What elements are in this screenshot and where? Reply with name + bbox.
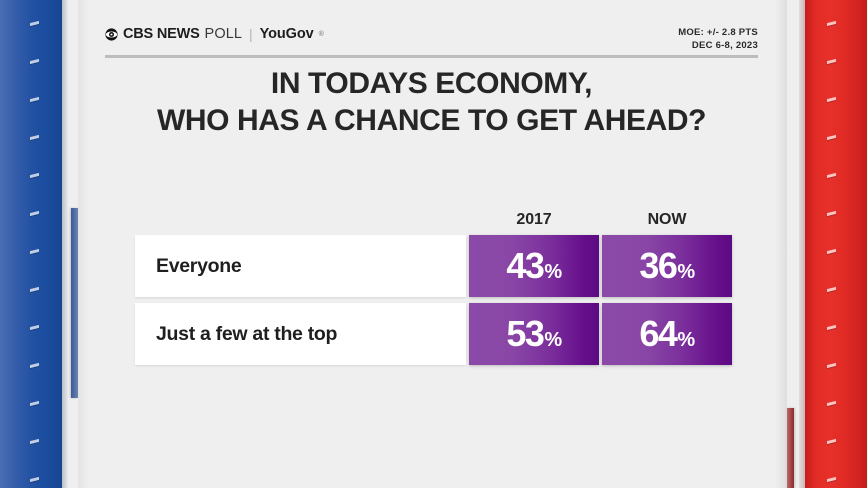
right-page-edge bbox=[775, 0, 787, 488]
row-label-just-a-few-at-the-top: Just a few at the top bbox=[135, 303, 466, 365]
value-number: 64 bbox=[639, 316, 676, 352]
percent-sign: % bbox=[677, 262, 694, 282]
percent-sign: % bbox=[677, 330, 694, 350]
brand-poll: POLL bbox=[205, 26, 242, 42]
brand-separator: | bbox=[247, 26, 255, 42]
value-number: 43 bbox=[506, 248, 543, 284]
cbs-eye-icon bbox=[105, 28, 118, 41]
margin-of-error: MOE: +/- 2.8 PTS bbox=[678, 27, 758, 40]
column-header-now: NOW bbox=[602, 212, 732, 230]
right-bevel bbox=[799, 0, 805, 488]
column-header-2017: 2017 bbox=[469, 212, 599, 230]
headline-line-2: WHO HAS A CHANCE TO GET AHEAD? bbox=[88, 103, 775, 140]
brand-yougov: YouGov bbox=[260, 26, 314, 42]
poll-metadata: MOE: +/- 2.8 PTS DEC 6-8, 2023 bbox=[678, 26, 758, 52]
value-cell-just-a-few-now: 64% bbox=[602, 303, 732, 365]
page-title: IN TODAYS ECONOMY, WHO HAS A CHANCE TO G… bbox=[88, 66, 775, 139]
value-cell-just-a-few-2017: 53% bbox=[469, 303, 599, 365]
value-everyone-now: 36% bbox=[639, 248, 694, 284]
value-just-a-few-2017: 53% bbox=[506, 316, 561, 352]
poll-graphic: CBS NEWS POLL | YouGov ® MOE: +/- 2.8 PT… bbox=[88, 0, 775, 488]
red-accent-bar bbox=[787, 408, 794, 488]
poll-dates: DEC 6-8, 2023 bbox=[678, 40, 758, 53]
brand-cbs-news: CBS NEWS bbox=[123, 26, 200, 42]
value-just-a-few-now: 64% bbox=[639, 316, 694, 352]
left-tick-marks bbox=[30, 0, 40, 488]
right-tick-marks bbox=[827, 0, 837, 488]
value-cell-everyone-now: 36% bbox=[602, 235, 732, 297]
right-frame-decoration bbox=[799, 0, 867, 488]
percent-sign: % bbox=[544, 330, 561, 350]
value-number: 53 bbox=[506, 316, 543, 352]
cbs-news-poll-yougov-logo: CBS NEWS POLL | YouGov ® bbox=[105, 26, 324, 42]
left-page-edge bbox=[78, 0, 88, 488]
value-everyone-2017: 43% bbox=[506, 248, 561, 284]
percent-sign: % bbox=[544, 262, 561, 282]
trademark-icon: ® bbox=[319, 31, 324, 38]
row-label-everyone: Everyone bbox=[135, 235, 466, 297]
headline-line-1: IN TODAYS ECONOMY, bbox=[88, 66, 775, 103]
table-row: Just a few at the top 53% 64% bbox=[135, 303, 735, 365]
left-bevel bbox=[62, 0, 68, 488]
value-number: 36 bbox=[639, 248, 676, 284]
blue-accent-bar bbox=[71, 208, 78, 398]
value-cell-everyone-2017: 43% bbox=[469, 235, 599, 297]
header: CBS NEWS POLL | YouGov ® MOE: +/- 2.8 PT… bbox=[105, 26, 758, 52]
header-divider bbox=[105, 55, 758, 58]
table-row: Everyone 43% 36% bbox=[135, 235, 735, 297]
table-column-headers: 2017 NOW bbox=[135, 208, 735, 230]
table-body: Everyone 43% 36% Just a few at the top 5… bbox=[135, 235, 735, 365]
results-table: 2017 NOW Everyone 43% 36% Just a few at … bbox=[135, 208, 735, 365]
left-frame-decoration bbox=[0, 0, 68, 488]
